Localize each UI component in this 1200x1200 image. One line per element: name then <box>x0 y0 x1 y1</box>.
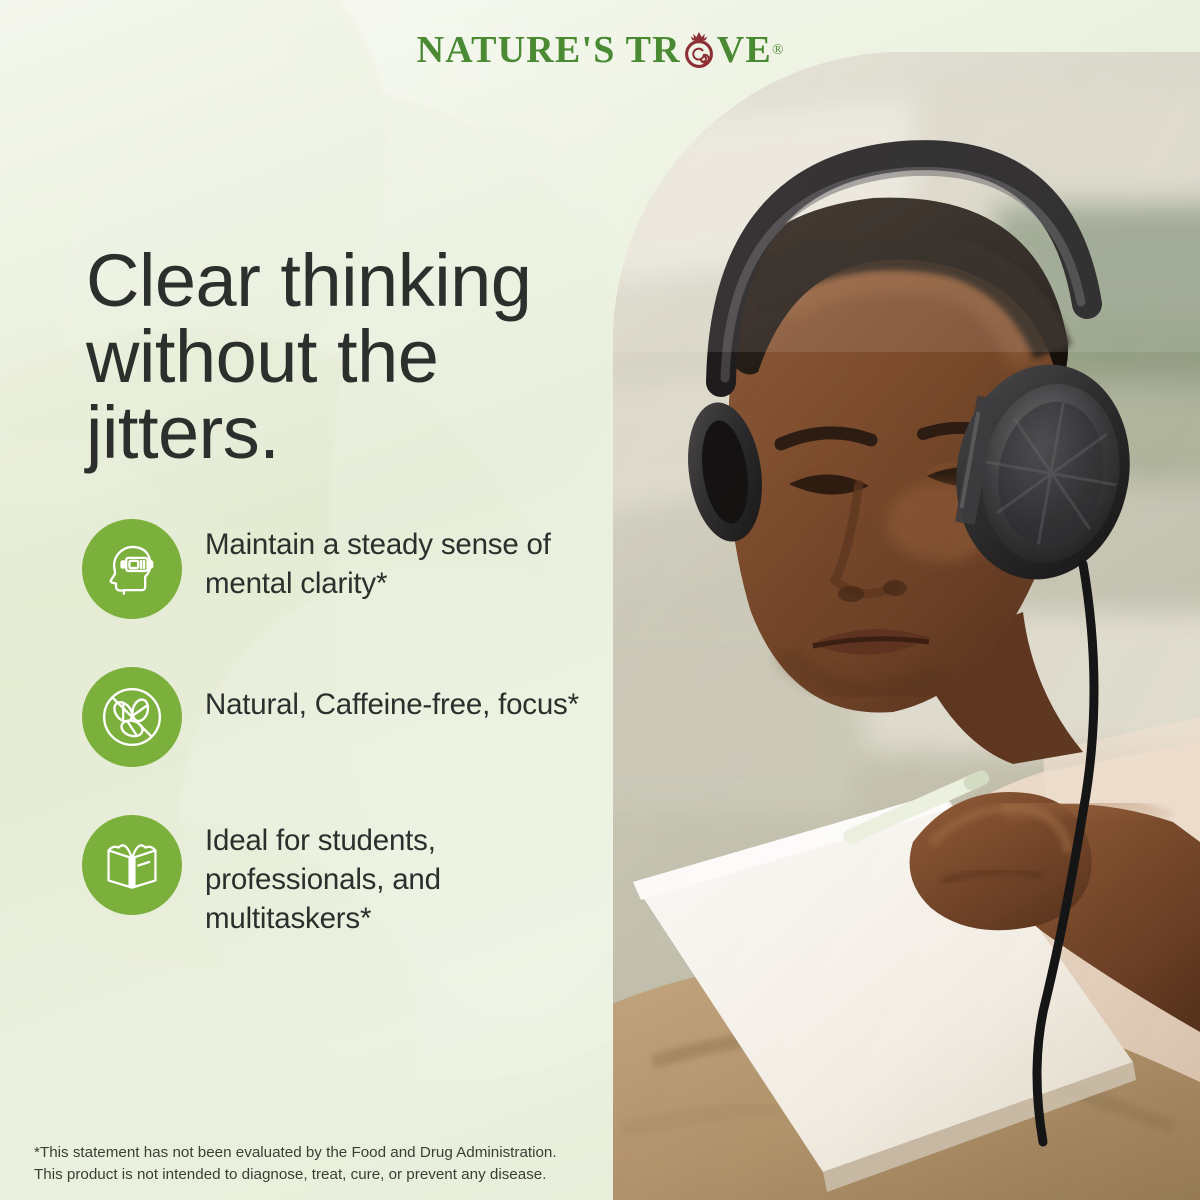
page-title: Clear thinking without the jitters. <box>86 243 586 472</box>
fda-disclaimer: *This statement has not been evaluated b… <box>34 1142 594 1186</box>
benefit-icon-badge <box>82 815 182 915</box>
logo-text-part1: NATURE'S TR <box>417 31 681 69</box>
list-item: Ideal for students, professionals, and m… <box>82 815 602 939</box>
benefit-text: Maintain a steady sense of mental clarit… <box>205 519 602 603</box>
disclaimer-line-1: *This statement has not been evaluated b… <box>34 1142 594 1164</box>
disclaimer-line-2: This product is not intended to diagnose… <box>34 1164 594 1186</box>
no-caffeine-beans-icon <box>99 684 165 750</box>
promo-canvas: NATURE'S TR VE ® Clear thinking without … <box>0 0 1200 1200</box>
open-book-icon <box>102 835 162 895</box>
list-item: Natural, Caffeine-free, focus* <box>82 667 602 767</box>
pomegranate-icon <box>682 30 716 70</box>
headline-line-3: jitters. <box>86 395 586 471</box>
logo-lockup: NATURE'S TR VE ® <box>417 30 784 70</box>
logo-text-part2: VE <box>717 31 772 69</box>
head-battery-icon <box>101 538 163 600</box>
benefit-text: Natural, Caffeine-free, focus* <box>205 667 579 724</box>
headline-line-1: Clear thinking <box>86 243 586 319</box>
benefit-text: Ideal for students, professionals, and m… <box>205 815 602 939</box>
registered-trademark-icon: ® <box>772 43 783 58</box>
benefit-list: Maintain a steady sense of mental clarit… <box>82 519 602 939</box>
benefit-icon-badge <box>82 519 182 619</box>
hero-photo <box>613 52 1200 1200</box>
benefit-icon-badge <box>82 667 182 767</box>
headline-line-2: without the <box>86 319 586 395</box>
list-item: Maintain a steady sense of mental clarit… <box>82 519 602 619</box>
